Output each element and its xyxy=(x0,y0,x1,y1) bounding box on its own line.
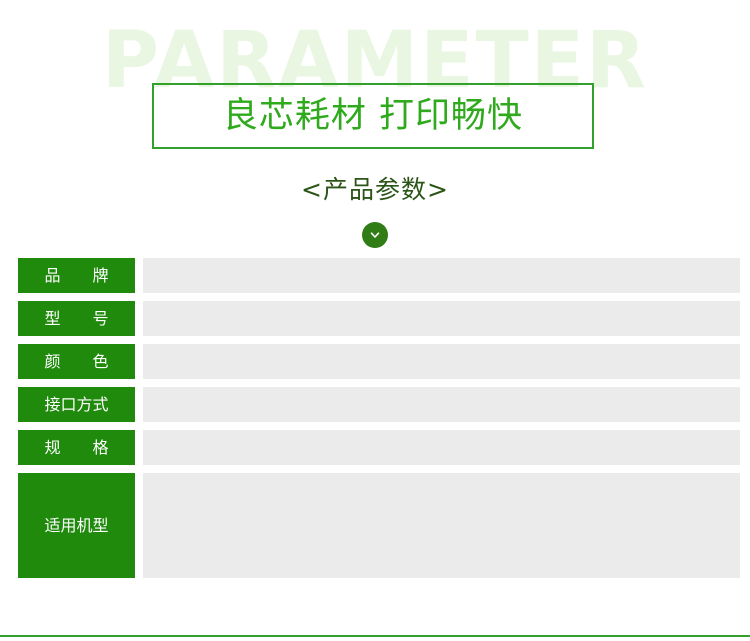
param-value-model xyxy=(143,301,740,336)
param-value-compatible-models xyxy=(143,473,740,578)
table-row: 品 牌 xyxy=(0,258,750,293)
param-label-compatible-models: 适用机型 xyxy=(18,473,135,578)
section-subtitle: <产品参数> xyxy=(0,176,750,205)
param-label-color: 颜 色 xyxy=(18,344,135,379)
table-row: 颜 色 xyxy=(0,344,750,379)
param-label-model: 型 号 xyxy=(18,301,135,336)
param-value-interface xyxy=(143,387,740,422)
table-row: 适用机型 xyxy=(0,473,750,578)
param-label-spec: 规 格 xyxy=(18,430,135,465)
hero-section: PARAMETER 良芯耗材 打印畅快 <产品参数> xyxy=(0,0,750,258)
table-row: 型 号 xyxy=(0,301,750,336)
main-title: 良芯耗材 打印畅快 xyxy=(223,99,523,134)
table-row: 接口方式 xyxy=(0,387,750,422)
param-value-color xyxy=(143,344,740,379)
param-value-spec xyxy=(143,430,740,465)
param-value-brand xyxy=(143,258,740,293)
table-row: 规 格 xyxy=(0,430,750,465)
param-label-brand: 品 牌 xyxy=(18,258,135,293)
footer-divider xyxy=(0,635,750,637)
param-label-interface: 接口方式 xyxy=(18,387,135,422)
chevron-down-icon xyxy=(368,228,382,242)
main-title-box: 良芯耗材 打印畅快 xyxy=(152,83,594,149)
product-parameter-page: PARAMETER 良芯耗材 打印畅快 <产品参数> 品 牌 型 号 颜 色 xyxy=(0,0,750,641)
expand-parameters-button[interactable] xyxy=(362,222,388,248)
parameter-table: 品 牌 型 号 颜 色 接口方式 规 格 适用机型 xyxy=(0,258,750,586)
